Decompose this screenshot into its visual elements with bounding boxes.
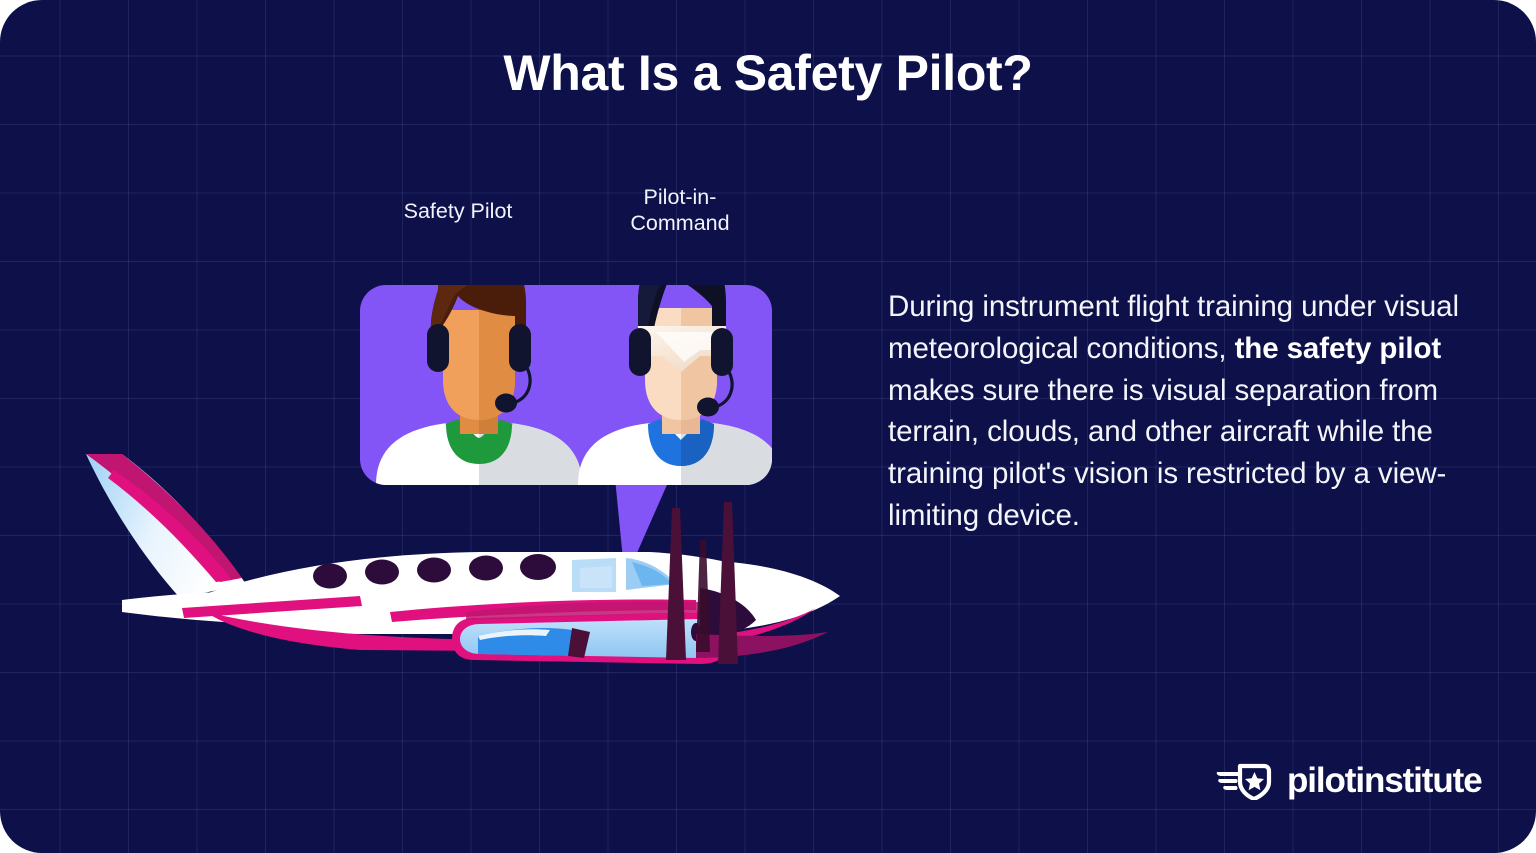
aircraft-nose-underside xyxy=(696,632,828,658)
label-safety-pilot: Safety Pilot xyxy=(360,198,556,224)
label-pic-line1: Pilot-in- xyxy=(644,185,717,209)
aircraft-propeller xyxy=(666,502,738,664)
page-title: What Is a Safety Pilot? xyxy=(0,46,1536,101)
label-pic-line2: Command xyxy=(630,211,729,235)
aircraft-illustration xyxy=(86,454,840,664)
infographic-card: What Is a Safety Pilot? Safety Pilot Pil… xyxy=(0,0,1536,853)
brand-name: pilotinstitute xyxy=(1287,763,1482,798)
paragraph-part-2: makes sure there is visual separation fr… xyxy=(888,374,1446,532)
aircraft-engine-nacelle xyxy=(452,612,732,664)
illustration-safety-pilot-scene xyxy=(60,240,860,700)
label-pilot-in-command: Pilot-in- Command xyxy=(592,184,768,236)
paragraph-bold-phrase: the safety pilot xyxy=(1235,332,1442,365)
brand-logo[interactable]: pilotinstitute xyxy=(1216,760,1482,800)
winged-shield-star-icon xyxy=(1216,760,1274,800)
body-paragraph: During instrument flight training under … xyxy=(888,286,1466,537)
